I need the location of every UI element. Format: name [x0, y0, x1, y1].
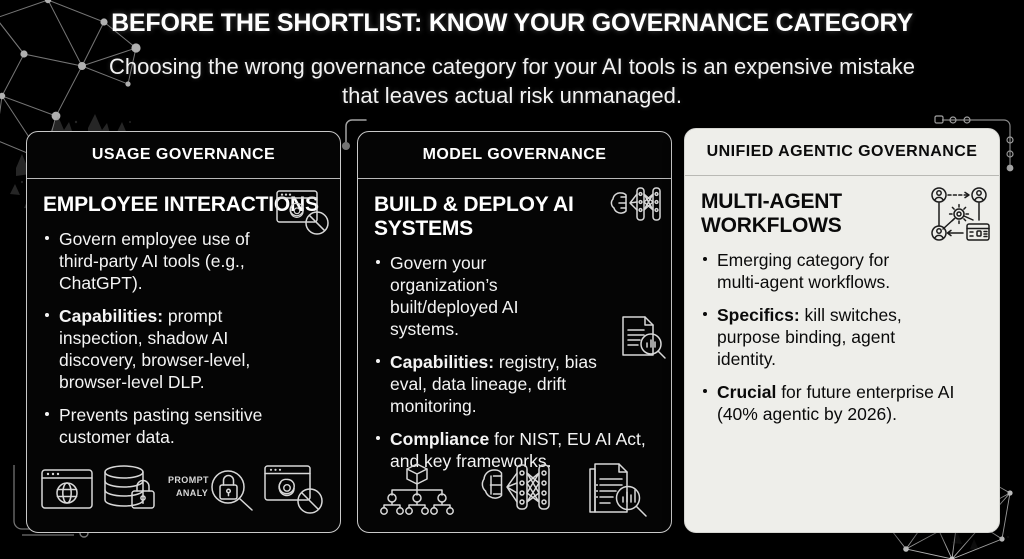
- card-model-icon-strip: [368, 458, 661, 520]
- card-model-header: MODEL GOVERNANCE: [358, 132, 671, 179]
- brain-neural-network-icon: [475, 461, 559, 517]
- page-subtitle: Choosing the wrong governance category f…: [100, 52, 924, 111]
- document-chart-magnifier-icon: [617, 313, 667, 361]
- page-title: BEFORE THE SHORTLIST: KNOW YOUR GOVERNAN…: [0, 9, 1024, 38]
- list-item: Govern employee use of third-party AI to…: [43, 228, 293, 294]
- database-lock-icon: [99, 463, 161, 515]
- document-chart-magnifier-icon: [579, 461, 651, 517]
- multi-agent-network-icon: [929, 186, 991, 244]
- svg-text:PROMPT: PROMPT: [168, 475, 209, 485]
- card-model-body: BUILD & DEPLOY AI SYSTEMS Govern your or…: [358, 179, 671, 532]
- card-usage-body: EMPLOYEE INTERACTIONS Govern employee us…: [27, 179, 340, 532]
- card-unified-header: UNIFIED AGENTIC GOVERNANCE: [685, 129, 999, 176]
- list-item: Capabilities: registry, bias eval, data …: [374, 351, 619, 417]
- card-unified-agentic-governance[interactable]: UNIFIED AGENTIC GOVERNANCE MULTI-AGENT W…: [684, 128, 1000, 533]
- card-usage-header: USAGE GOVERNANCE: [27, 132, 340, 179]
- list-item: Govern your organization’s built/deploye…: [374, 252, 549, 340]
- card-usage-icon-strip: PROMPT ANALY: [37, 458, 330, 520]
- card-unified-body: MULTI-AGENT WORKFLOWS Emerging category …: [685, 176, 999, 532]
- card-usage-bullet-list: Govern employee use of third-party AI to…: [43, 228, 324, 448]
- list-item: Specifics: kill switches, purpose bindin…: [701, 304, 933, 370]
- card-unified-bullet-list: Emerging category for multi-agent workfl…: [701, 249, 983, 425]
- list-item: Emerging category for multi-agent workfl…: [701, 249, 929, 293]
- svg-text:ANALY: ANALY: [176, 488, 208, 498]
- list-item: Prevents pasting sensitive customer data…: [43, 404, 293, 448]
- hierarchy-cube-tree-icon: [378, 462, 456, 516]
- browser-chatgpt-blocked-icon: [274, 187, 332, 239]
- prompt-analysis-lock-magnifier-icon: PROMPT ANALY: [166, 463, 258, 515]
- browser-chatgpt-blocked-icon: [262, 461, 328, 517]
- card-usage-governance[interactable]: USAGE GOVERNANCE EMPLOYEE INTERACTIONS G…: [26, 131, 341, 533]
- card-model-bullet-list: Govern your organization’s built/deploye…: [374, 252, 655, 472]
- slide-canvas: BEFORE THE SHORTLIST: KNOW YOUR GOVERNAN…: [0, 0, 1024, 559]
- list-item: Crucial for future enterprise AI (40% ag…: [701, 381, 983, 425]
- brain-neural-network-icon: [607, 183, 665, 225]
- list-item: Capabilities: prompt inspection, shadow …: [43, 305, 293, 393]
- card-model-governance[interactable]: MODEL GOVERNANCE BUILD & DEPLOY AI SYSTE…: [357, 131, 672, 533]
- browser-globe-icon: [39, 465, 95, 513]
